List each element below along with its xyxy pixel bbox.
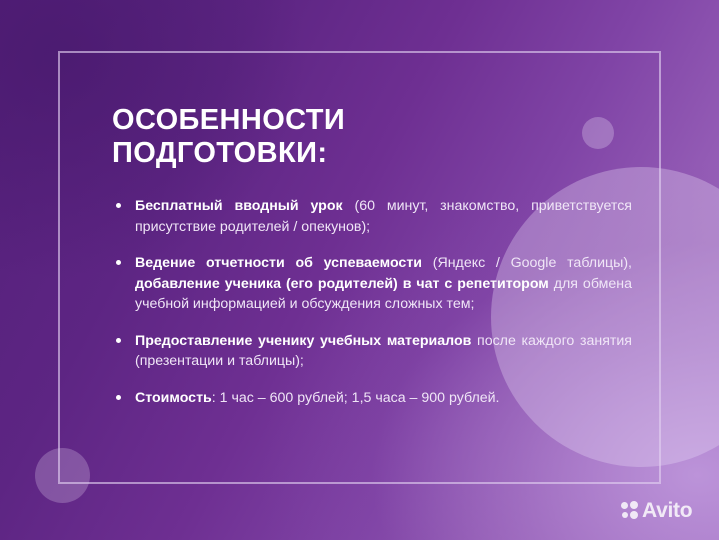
bullet-dot-icon — [116, 203, 121, 208]
list-item: Предоставление ученику учебных материало… — [112, 331, 632, 372]
bullet-dot-icon — [116, 395, 121, 400]
features-list: Бесплатный вводный урок (60 минут, знако… — [112, 196, 632, 408]
avito-brand-label: Avito — [642, 500, 692, 521]
list-item-text: Бесплатный вводный урок — [135, 198, 343, 214]
list-item: Ведение отчетности об успеваемости (Янде… — [112, 253, 632, 315]
avito-watermark: Avito — [621, 500, 692, 521]
list-item: Стоимость: 1 час – 600 рублей; 1,5 часа … — [112, 388, 632, 409]
slide-content: ОСОБЕННОСТИ ПОДГОТОВКИ: Бесплатный вводн… — [112, 104, 632, 408]
bullet-dot-icon — [116, 338, 121, 343]
list-item-text: Ведение отчетности об успеваемости — [135, 255, 422, 271]
list-item-text: Предоставление ученику учебных материало… — [135, 333, 471, 349]
bullet-dot-icon — [116, 260, 121, 265]
list-item-text: Стоимость — [135, 390, 212, 406]
list-item: Бесплатный вводный урок (60 минут, знако… — [112, 196, 632, 237]
avito-dots-icon — [621, 501, 638, 520]
page-title: ОСОБЕННОСТИ ПОДГОТОВКИ: — [112, 104, 632, 170]
list-item-text: : 1 час – 600 рублей; 1,5 часа – 900 руб… — [212, 390, 500, 406]
slide-canvas: ОСОБЕННОСТИ ПОДГОТОВКИ: Бесплатный вводн… — [0, 0, 719, 540]
list-item-text: (Яндекс / Google таблицы), — [422, 255, 632, 271]
list-item-text: добавление ученика (его родителей) в чат… — [135, 276, 549, 292]
